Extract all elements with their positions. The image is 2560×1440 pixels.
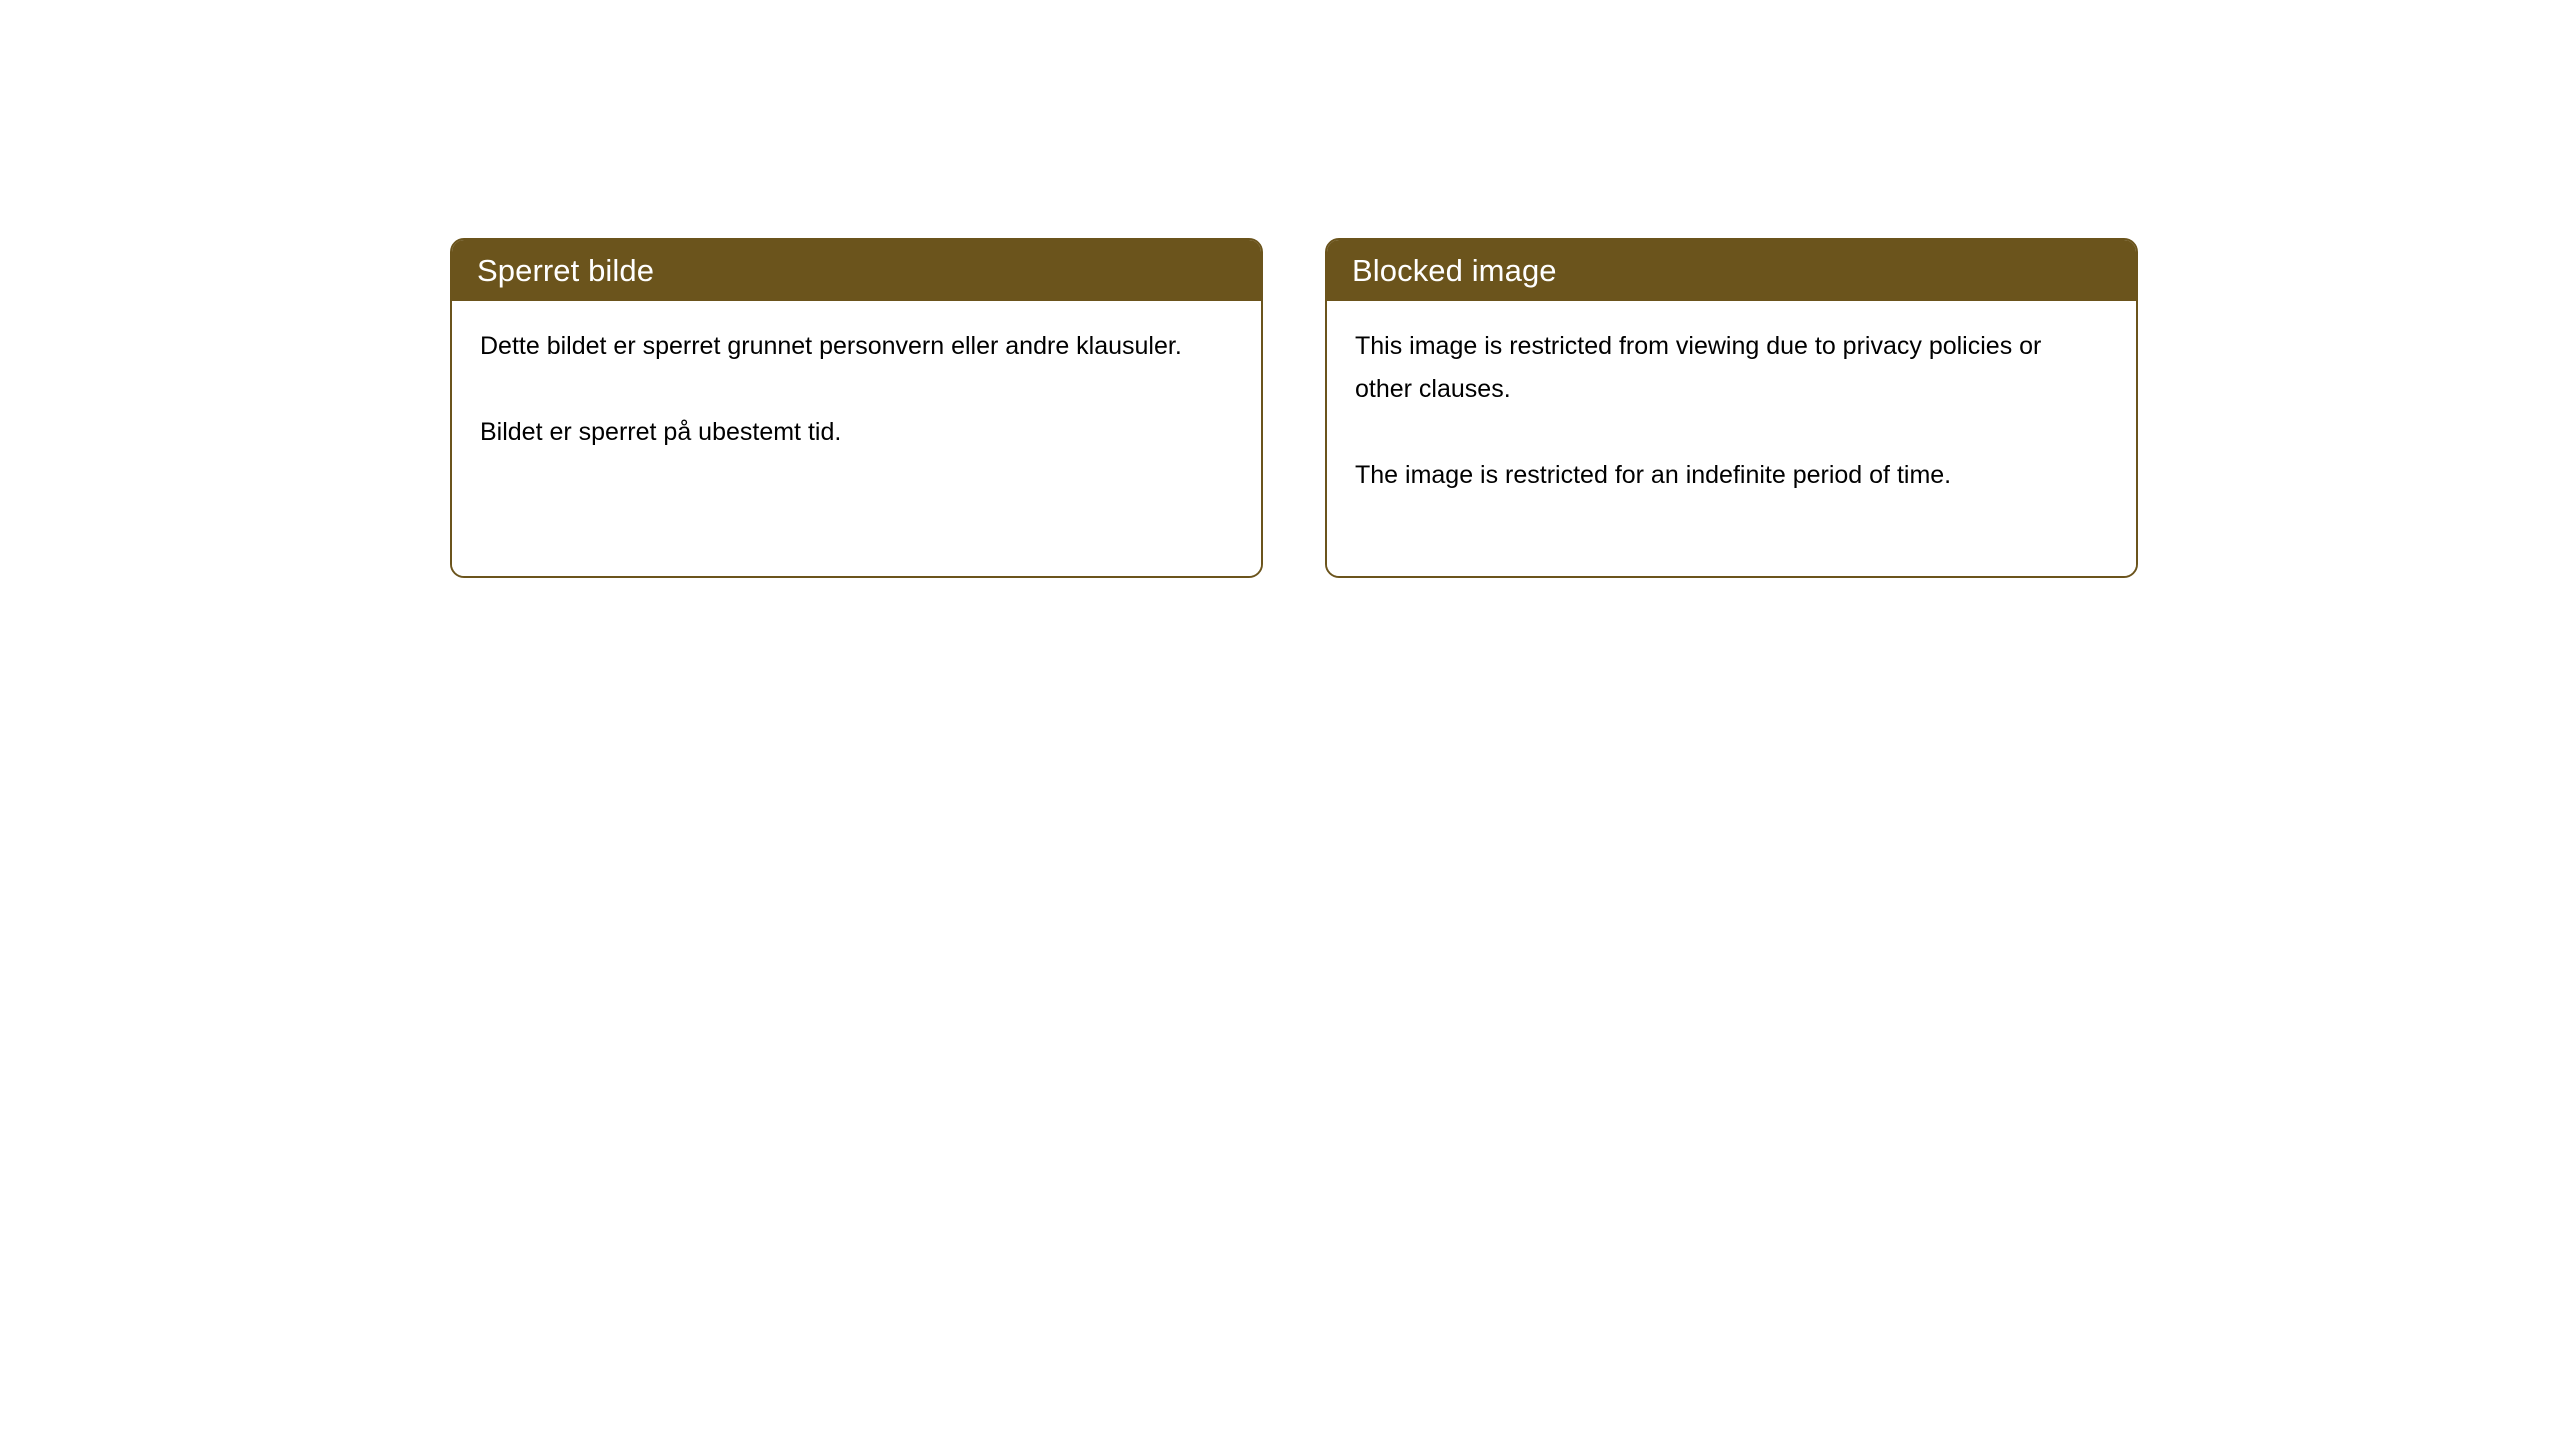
blocked-image-card-english: Blocked image This image is restricted f… xyxy=(1325,238,2138,578)
card-body-norwegian: Dette bildet er sperret grunnet personve… xyxy=(452,301,1261,576)
paragraph-spacer xyxy=(480,368,1235,411)
card-paragraph-secondary-english: The image is restricted for an indefinit… xyxy=(1355,454,2085,497)
card-title-english: Blocked image xyxy=(1352,255,1557,286)
card-paragraph-primary-norwegian: Dette bildet er sperret grunnet personve… xyxy=(480,325,1210,368)
card-body-english: This image is restricted from viewing du… xyxy=(1327,301,2136,576)
card-paragraph-secondary-norwegian: Bildet er sperret på ubestemt tid. xyxy=(480,411,1210,454)
card-paragraph-primary-english: This image is restricted from viewing du… xyxy=(1355,325,2085,411)
blocked-image-notices: Sperret bilde Dette bildet er sperret gr… xyxy=(450,238,2138,578)
card-header-norwegian: Sperret bilde xyxy=(452,240,1261,301)
card-title-norwegian: Sperret bilde xyxy=(477,255,654,286)
paragraph-spacer xyxy=(1355,411,2110,454)
card-header-english: Blocked image xyxy=(1327,240,2136,301)
blocked-image-card-norwegian: Sperret bilde Dette bildet er sperret gr… xyxy=(450,238,1263,578)
